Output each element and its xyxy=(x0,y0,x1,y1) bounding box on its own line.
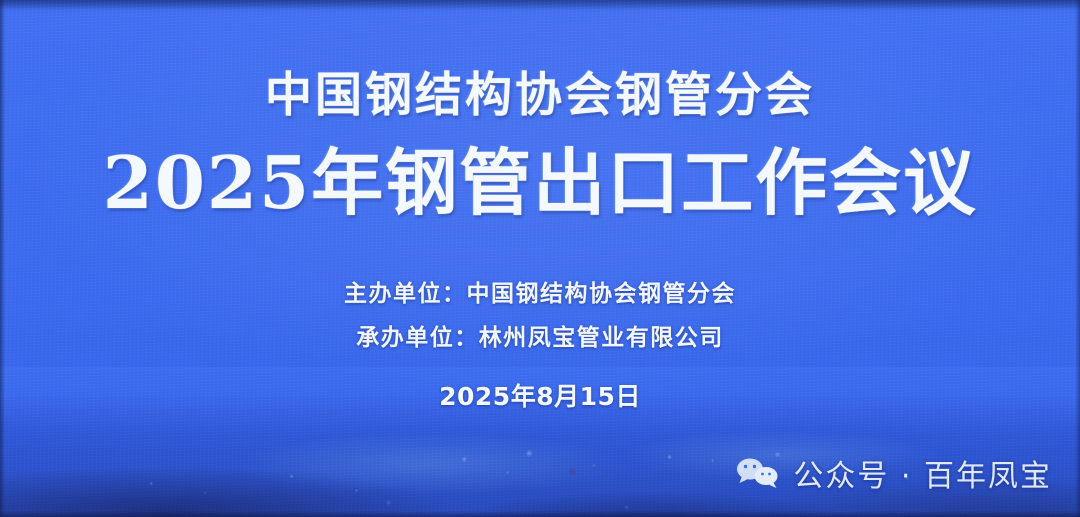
banner-title-line-1: 中国钢结构协会钢管分会 xyxy=(0,72,1080,119)
banner-host-line: 承办单位：林州凤宝管业有限公司 xyxy=(0,318,1080,352)
wechat-icon xyxy=(735,456,781,490)
presentation-screen: 中国钢结构协会钢管分会 2025年钢管出口工作会议 主办单位：中国钢结构协会钢管… xyxy=(0,0,1080,517)
watermark-label: 公众号 · 百年凤宝 xyxy=(793,451,1052,495)
banner-title-line-2: 2025年钢管出口工作会议 xyxy=(0,147,1080,219)
banner-content: 中国钢结构协会钢管分会 2025年钢管出口工作会议 主办单位：中国钢结构协会钢管… xyxy=(0,0,1080,517)
banner-organizer-line: 主办单位：中国钢结构协会钢管分会 xyxy=(0,274,1080,308)
banner-date: 2025年8月15日 xyxy=(0,377,1080,413)
wechat-watermark: 公众号 · 百年凤宝 xyxy=(735,451,1052,495)
